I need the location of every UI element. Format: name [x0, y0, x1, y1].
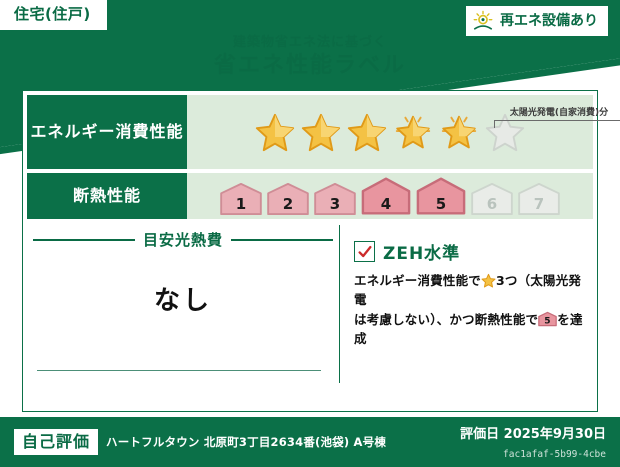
label-footer: 自己評価 ハートフルタウン 北原町3丁目2634番(池袋) A号棟 評価日 20…: [0, 417, 620, 467]
insulation-level-5: 5: [415, 176, 467, 216]
label-title: 省エネ性能ラベル: [0, 52, 620, 80]
label-card: エネルギー消費性能: [22, 90, 598, 412]
insulation-level-3: 3: [313, 182, 357, 216]
insulation-level-1: 1: [219, 182, 263, 216]
insulation-level-6-label: 6: [470, 197, 514, 212]
house-type-tag: 住宅(住戸): [0, 0, 109, 32]
star-filled-1: [254, 111, 296, 153]
svg-text:5: 5: [545, 316, 551, 326]
insulation-level-5-label: 5: [415, 197, 467, 212]
zeh-title-row: ZEH水準: [354, 239, 585, 264]
insulation-performance-scale-cell: 1 2 3 4 5: [187, 173, 593, 219]
estimated-cost-underline: [37, 370, 321, 372]
insulation-level-3-label: 3: [313, 197, 357, 212]
insulation-level-4-label: 4: [360, 197, 412, 212]
property-name: ハートフルタウン 北原町3丁目2634番(池袋) A号棟: [106, 434, 386, 450]
insulation-performance-label-text: 断熱性能: [73, 185, 141, 207]
insulation-level-7: 7: [517, 182, 561, 216]
evaluation-date: 評価日 2025年9月30日: [460, 427, 606, 442]
label-titles: 建築物省エネ法に基づく 省エネ性能ラベル: [0, 36, 620, 80]
zeh-panel: ZEH水準 エネルギー消費性能で3つ（太陽光発電は考慮しない）、かつ断熱性能で5…: [339, 225, 593, 383]
insulation-level-1-label: 1: [219, 197, 263, 212]
star-filled-3: [346, 111, 388, 153]
label-subtitle: 建築物省エネ法に基づく: [0, 36, 620, 50]
energy-performance-label: 住宅(住戸) 再エネ設備あり 建築物省エネ法に基づく 省エネ性能ラベル: [0, 0, 620, 467]
cost-heading-rule-right: [231, 239, 333, 241]
footer-right-block: 評価日 2025年9月30日 fac1afaf-5b99-4cbe: [460, 423, 606, 462]
zeh-desc-part-3: は考慮しない）、かつ断熱性能で: [354, 312, 538, 327]
star-filled-2: [300, 111, 342, 153]
zeh-title-text: ZEH水準: [383, 239, 460, 264]
cost-heading-rule-left: [33, 239, 135, 241]
zeh-desc-part-1: エネルギー消費性能で: [354, 273, 481, 288]
insulation-level-2-label: 2: [266, 197, 310, 212]
insulation-performance-row: 断熱性能 1 2 3: [27, 173, 593, 219]
estimated-cost-panel: 目安光熱費 なし: [27, 225, 339, 383]
estimated-cost-heading-text: 目安光熱費: [143, 229, 223, 250]
insulation-level-6: 6: [470, 182, 514, 216]
zeh-description: エネルギー消費性能で3つ（太陽光発電は考慮しない）、かつ断熱性能で5を達成: [354, 271, 585, 349]
energy-performance-label-text: エネルギー消費性能: [30, 121, 183, 143]
self-evaluation-badge: 自己評価: [14, 429, 98, 455]
renewable-energy-badge: 再エネ設備あり: [464, 4, 610, 38]
energy-performance-row: エネルギー消費性能: [27, 95, 593, 169]
insulation-level-4: 4: [360, 176, 412, 216]
energy-performance-label-cell: エネルギー消費性能: [27, 95, 187, 169]
sun-renewable-icon: [472, 10, 494, 32]
star-solar-5: [438, 111, 480, 153]
renewable-badge-label: 再エネ設備あり: [500, 14, 598, 28]
estimated-cost-value: なし: [27, 280, 339, 317]
star-empty-6: [484, 111, 526, 153]
evaluation-id: fac1afaf-5b99-4cbe: [503, 449, 606, 460]
estimated-cost-heading: 目安光熱費: [27, 225, 339, 250]
label-lower-section: 目安光熱費 なし ZEH水準 エネルギー消費性能で3つ（太陽光発電は考慮しな: [27, 225, 593, 383]
energy-performance-stars-cell: 太陽光発電(自家消費)分: [187, 95, 593, 169]
star-rating: [254, 107, 526, 157]
star-solar-4: [392, 111, 434, 153]
zeh-checkbox[interactable]: [354, 241, 375, 262]
insulation-level-2: 2: [266, 182, 310, 216]
insulation-performance-label-cell: 断熱性能: [27, 173, 187, 219]
insulation-level-scale: 1 2 3 4 5: [219, 173, 561, 219]
inline-insulation-level-badge: 5: [538, 311, 557, 327]
star-wrap: 太陽光発電(自家消費)分: [254, 107, 526, 157]
insulation-level-7-label: 7: [517, 197, 561, 212]
inline-star-icon: [481, 273, 496, 288]
